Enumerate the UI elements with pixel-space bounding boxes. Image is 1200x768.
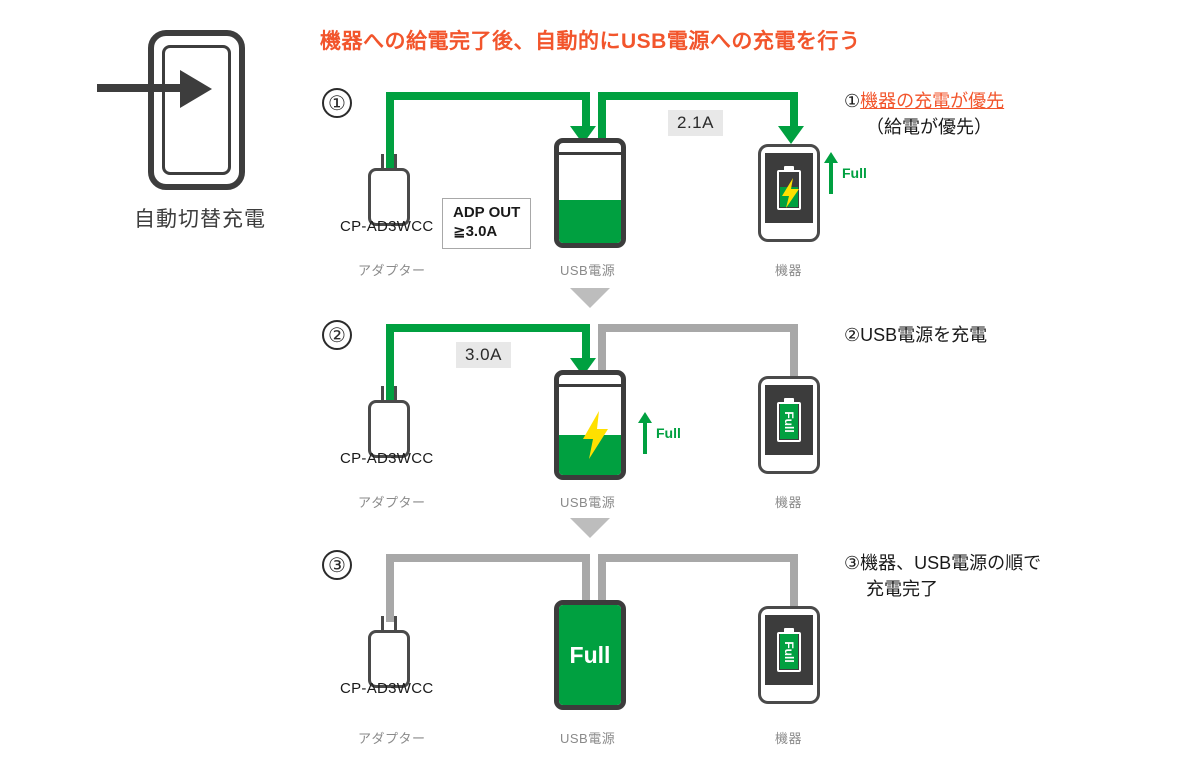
bank-role-1: USB電源 (560, 260, 615, 279)
bank-full-label-3: Full (559, 605, 621, 705)
annotation-1-line1: 機器の充電が優先 (860, 91, 1004, 111)
transition-arrow-2-to-3 (570, 518, 610, 538)
wire2-adapter-down (386, 324, 394, 412)
wire-device-in-down (790, 92, 798, 130)
wire3-adapter-to-bank-horizontal (386, 554, 590, 562)
annotation-3-line1: 機器、USB電源の順で (860, 553, 1041, 573)
adp-out-line2: ≧3.0A (453, 223, 520, 242)
device-screen-3: Full (765, 615, 813, 685)
current-badge-2: 3.0A (456, 342, 511, 368)
annotation-2: ②USB電源を充電 (844, 322, 987, 348)
adp-out-line1: ADP OUT (453, 204, 520, 223)
full-marker-2: Full (638, 412, 681, 454)
step-number-1: ① (322, 88, 352, 118)
page-title: 機器への給電完了後、自動的にUSB電源への充電を行う (320, 25, 860, 55)
bank-top-divider (559, 152, 621, 155)
battery-icon-1 (777, 166, 801, 210)
wire-adapter-to-bank-horizontal (386, 92, 590, 100)
usb-power-bank-3: Full (554, 600, 626, 710)
annotation-1-line2: （給電が優先） (844, 114, 1004, 140)
device-batt-label-3: Full (777, 642, 801, 662)
battery-icon-2: Full (777, 398, 801, 442)
adapter-model-3: CP-AD3WCC (340, 680, 434, 697)
full-label-1: Full (842, 165, 867, 181)
battery-icon-3: Full (777, 628, 801, 672)
wire2-bank-in-down (582, 324, 590, 362)
adapter-model-2: CP-AD3WCC (340, 450, 434, 467)
step-row-1: ① 2.1A CP-AD3WCC アダプター ADP OUT ≧3.0A USB… (0, 80, 1200, 295)
current-badge-1: 2.1A (668, 110, 723, 136)
transition-arrow-1-to-2 (570, 288, 610, 308)
wire3-adapter-down (386, 554, 394, 622)
annotation-3: ③機器、USB電源の順で 充電完了 (844, 550, 1041, 602)
bank-top-divider-2 (559, 384, 621, 387)
wire2-device-in-down (790, 324, 798, 382)
bank-role-3: USB電源 (560, 728, 615, 747)
adapter-role-2: アダプター (358, 492, 426, 511)
full-marker-1: Full (824, 152, 867, 194)
lightning-bolt-icon-2 (577, 407, 613, 463)
device-phone-1 (758, 144, 820, 242)
annotation-2-line1: USB電源を充電 (860, 325, 987, 345)
annotation-3-num: ③ (844, 553, 860, 573)
annotation-1-num: ① (844, 91, 860, 111)
annotation-3-line2: 充電完了 (844, 576, 1041, 602)
arrow-into-device-1 (778, 126, 804, 144)
adapter-model-1: CP-AD3WCC (340, 218, 434, 235)
bank-charge-fill-1 (559, 200, 621, 243)
wire-bank-in-down (582, 92, 590, 130)
device-screen-1 (765, 153, 813, 223)
lightning-bolt-icon-1 (777, 170, 801, 210)
step-number-3: ③ (322, 550, 352, 580)
diagram-canvas: 自動切替充電 機器への給電完了後、自動的にUSB電源への充電を行う ① 2.1A… (0, 0, 1200, 768)
wire3-device-in-down (790, 554, 798, 612)
device-phone-3: Full (758, 606, 820, 704)
annotation-1: ①機器の充電が優先 （給電が優先） (844, 88, 1004, 140)
full-label-2: Full (656, 425, 681, 441)
usb-power-bank-1 (554, 138, 626, 248)
device-screen-2: Full (765, 385, 813, 455)
wire-adapter-down (386, 92, 394, 180)
wire3-bank-to-device-horizontal (598, 554, 798, 562)
device-batt-label-2: Full (777, 412, 801, 432)
step-number-2: ② (322, 320, 352, 350)
wire2-bank-to-device-horizontal (598, 324, 798, 332)
device-role-1: 機器 (775, 260, 802, 279)
bank-role-2: USB電源 (560, 492, 615, 511)
step-row-2: ② 3.0A CP-AD3WCC アダプター Full USB電源 (0, 312, 1200, 527)
wire2-adapter-to-bank-horizontal (386, 324, 590, 332)
device-phone-2: Full (758, 376, 820, 474)
adapter-role-1: アダプター (358, 260, 426, 279)
usb-power-bank-2 (554, 370, 626, 480)
adp-out-spec-box: ADP OUT ≧3.0A (442, 198, 531, 249)
wire-bank-to-device-horizontal (598, 92, 798, 100)
device-role-2: 機器 (775, 492, 802, 511)
device-role-3: 機器 (775, 728, 802, 747)
annotation-2-num: ② (844, 325, 860, 345)
adapter-role-3: アダプター (358, 728, 426, 747)
